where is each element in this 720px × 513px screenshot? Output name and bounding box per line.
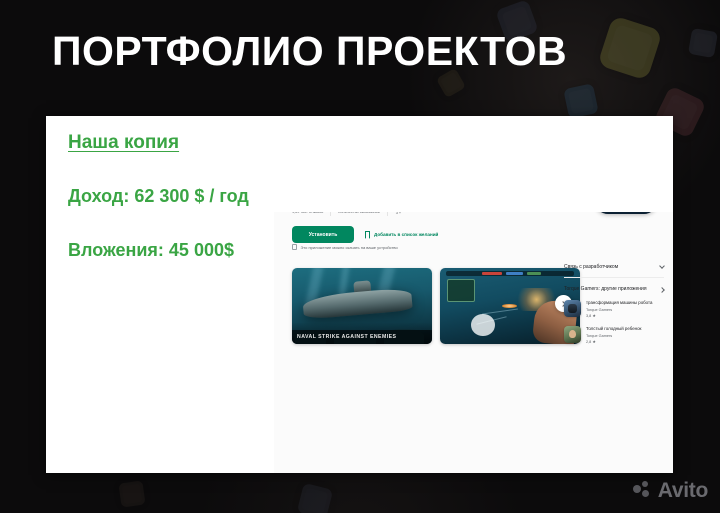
page-title: ПОРТФОЛИО ПРОЕКТОВ	[52, 30, 567, 73]
metrics-block: Наша копия Доход: 62 300 $ / год Вложени…	[68, 132, 318, 261]
wishlist-label: Добавить в список желаний	[374, 232, 438, 237]
water-wave	[595, 212, 657, 214]
torpedo	[502, 304, 517, 308]
our-copy-label: Наша копия	[68, 132, 318, 154]
screenshot-caption: NAVAL STRIKE AGAINST ENEMIES	[292, 330, 432, 344]
downloads-label: Количество скачиваний	[338, 212, 380, 214]
list-item-name: Толстый голодный ребенок	[586, 326, 641, 332]
app-thumbnail-icon	[564, 300, 581, 317]
portfolio-card: Наша копия Доход: 62 300 $ / год Вложени…	[46, 116, 673, 473]
bookmark-icon	[365, 231, 370, 238]
joystick-control	[471, 314, 495, 337]
google-play-page: Google Play Игры Приложения Фильмы Книги…	[274, 212, 673, 473]
list-item[interactable]: Толстый голодный ребенок Torque Gamers 2…	[564, 326, 664, 344]
hud-ammo	[506, 272, 523, 275]
stat-content-rating: 3 +	[395, 212, 402, 215]
submarine-app-icon	[595, 212, 657, 214]
background-app-icon	[118, 480, 145, 507]
minimap	[447, 279, 475, 302]
stat-divider	[387, 212, 388, 216]
wishlist-button[interactable]: Добавить в список желаний	[365, 231, 438, 238]
list-item-rating: 2,8 ★	[586, 339, 641, 344]
chevron-down-icon	[659, 263, 665, 269]
screenshot-thumbnail[interactable]: NAVAL STRIKE AGAINST ENEMIES	[292, 268, 432, 344]
income-label: Доход: 62 300 $ / год	[68, 186, 318, 207]
google-play-screenshot: Google Play Игры Приложения Фильмы Книги…	[274, 212, 673, 473]
stat-downloads: 100 тыс.+ Количество скачиваний	[338, 212, 380, 214]
stat-divider	[330, 212, 331, 216]
avito-watermark: Avito	[633, 479, 708, 503]
more-apps-title: Torque Gamers: другие приложения	[564, 286, 647, 293]
avito-dots-icon	[633, 481, 653, 501]
list-item-rating: 3,8 ★	[586, 313, 652, 318]
hud-health	[482, 272, 502, 275]
list-item-developer: Torque Gamers	[586, 308, 652, 312]
background-app-icon	[688, 28, 718, 58]
sidebar-divider	[564, 277, 664, 278]
submarine-hull	[302, 288, 413, 320]
content-rating-label: 3 +	[395, 212, 402, 215]
more-apps-header[interactable]: Torque Gamers: другие приложения	[564, 286, 664, 293]
list-item[interactable]: трансформация машины робота Torque Gamer…	[564, 300, 664, 318]
chevron-right-icon	[659, 287, 665, 293]
app-thumbnail-icon	[564, 326, 581, 343]
background-app-icon	[563, 83, 599, 119]
bullet-trail	[482, 308, 518, 314]
list-item-developer: Torque Gamers	[586, 334, 641, 338]
app-sidebar: Связь с разработчиком Torque Gamers: дру…	[564, 264, 664, 352]
contact-developer-row[interactable]: Связь с разработчиком	[564, 264, 664, 277]
avito-wordmark: Avito	[658, 479, 708, 503]
hud-oxygen	[527, 272, 541, 275]
screenshot-gallery: NAVAL STRIKE AGAINST ENEMIES	[292, 268, 580, 344]
investment-label: Вложения: 45 000$	[68, 240, 318, 261]
list-item-name: трансформация машины робота	[586, 300, 652, 306]
contact-developer-label: Связь с разработчиком	[564, 264, 618, 270]
app-stats-row: 3,7 ★ 1,69 тыс. отзывов 100 тыс.+ Количе…	[292, 212, 522, 216]
